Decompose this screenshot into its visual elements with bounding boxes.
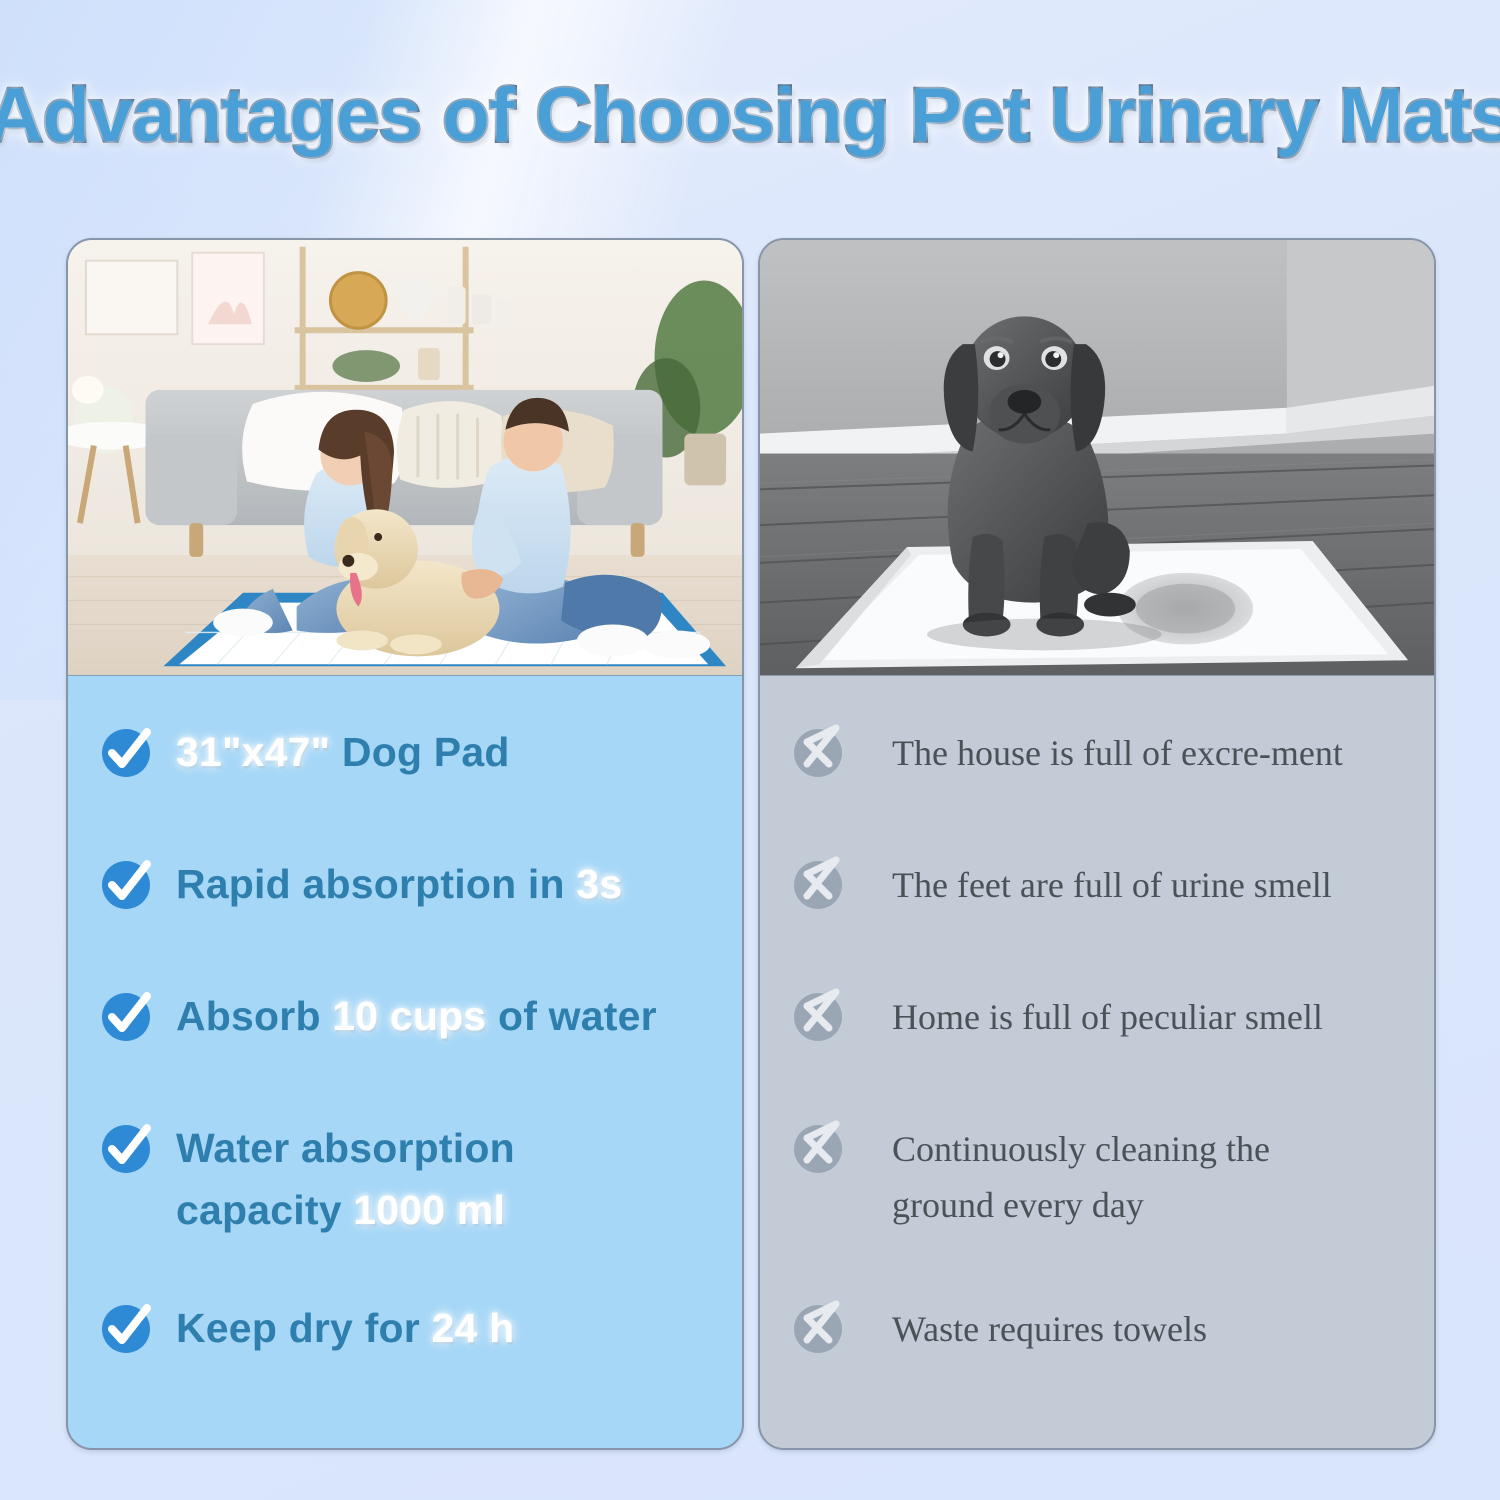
infographic-page: Advantages of Choosing Pet Urinary Mats: [0, 0, 1500, 1500]
check-circle-icon: [98, 1120, 154, 1176]
list-item: Continuously cleaning the ground every d…: [790, 1116, 1416, 1296]
advantage-highlight: 10 cups: [332, 993, 486, 1039]
check-circle-icon: [98, 856, 154, 912]
disadvantages-list: The house is full of excre-ment The feet…: [760, 676, 1434, 1448]
list-item: Water absorption capacity 1000 ml: [98, 1116, 724, 1296]
cross-circle-icon: [790, 1120, 846, 1176]
list-item: The house is full of excre-ment: [790, 720, 1416, 852]
list-item: Waste requires towels: [790, 1296, 1416, 1428]
advantage-text: Rapid absorption in 3s: [176, 852, 622, 916]
puppy-on-soiled-pad-photo: [760, 240, 1434, 676]
list-item: Rapid absorption in 3s: [98, 852, 724, 984]
couple-with-labrador-on-pet-pad-photo: [68, 240, 742, 676]
cross-circle-icon: [790, 1300, 846, 1356]
list-item: The feet are full of urine smell: [790, 852, 1416, 984]
check-circle-icon: [98, 988, 154, 1044]
advantage-text: Water absorption capacity 1000 ml: [176, 1116, 515, 1241]
disadvantage-text: The feet are full of urine smell: [892, 852, 1332, 914]
cross-circle-icon: [790, 724, 846, 780]
check-circle-icon: [98, 1300, 154, 1356]
advantages-list: 31"x47" Dog Pad Rapid absorption in 3s: [68, 676, 742, 1448]
advantage-highlight: 1000 ml: [353, 1187, 505, 1233]
cross-circle-icon: [790, 856, 846, 912]
list-item: 31"x47" Dog Pad: [98, 720, 724, 852]
cross-circle-icon: [790, 988, 846, 1044]
list-item: Absorb 10 cups of water: [98, 984, 724, 1116]
advantage-highlight: 24 h: [432, 1305, 515, 1351]
advantage-text: 31"x47" Dog Pad: [176, 720, 510, 784]
advantage-highlight: 3s: [576, 861, 622, 907]
advantage-highlight: 31"x47": [176, 729, 330, 775]
disadvantage-text: Continuously cleaning the ground every d…: [892, 1116, 1362, 1234]
page-title: Advantages of Choosing Pet Urinary Mats: [0, 78, 1500, 154]
disadvantage-text: The house is full of excre-ment: [892, 720, 1343, 782]
advantage-text: Absorb 10 cups of water: [176, 984, 657, 1048]
advantage-text: Keep dry for 24 h: [176, 1296, 514, 1360]
disadvantage-text: Waste requires towels: [892, 1296, 1207, 1358]
list-item: Home is full of peculiar smell: [790, 984, 1416, 1116]
disadvantages-panel: The house is full of excre-ment The feet…: [758, 238, 1436, 1450]
list-item: Keep dry for 24 h: [98, 1296, 724, 1428]
disadvantage-text: Home is full of peculiar smell: [892, 984, 1323, 1046]
page-title-container: Advantages of Choosing Pet Urinary Mats: [0, 78, 1500, 188]
check-circle-icon: [98, 724, 154, 780]
comparison-panels: 31"x47" Dog Pad Rapid absorption in 3s: [66, 238, 1436, 1450]
advantages-panel: 31"x47" Dog Pad Rapid absorption in 3s: [66, 238, 744, 1450]
